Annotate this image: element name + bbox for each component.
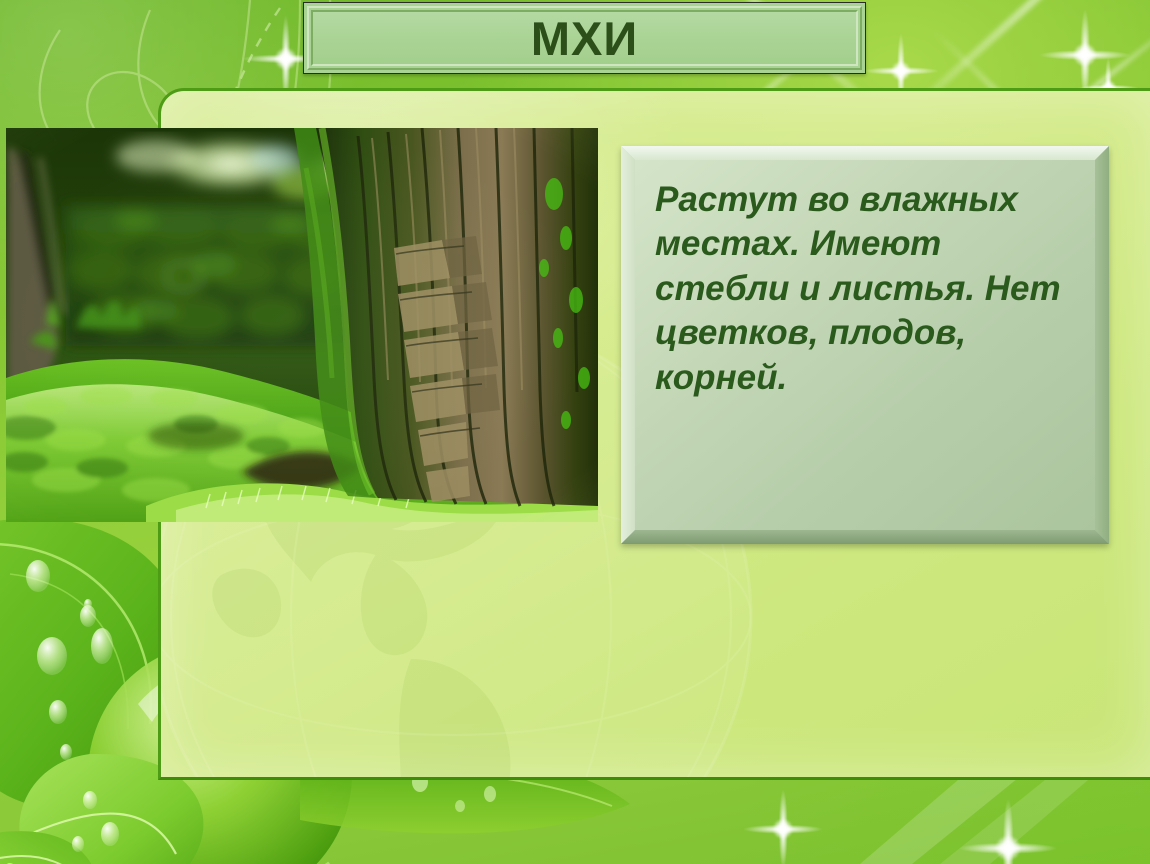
plaque-inner-frame: МХИ	[311, 10, 858, 66]
textbox-bevel-left	[621, 146, 635, 544]
page-title: МХИ	[531, 15, 638, 62]
textbox-face: Растут во влажных местах. Имеют стебли и…	[635, 160, 1095, 530]
moss-photo-image	[6, 128, 598, 522]
slide-title-plaque: МХИ	[303, 2, 866, 74]
textbox-bevel-right	[1095, 146, 1109, 544]
textbox-bevel-top	[621, 146, 1109, 160]
moss-photo	[6, 128, 598, 522]
textbox-bevel-bottom	[621, 530, 1109, 544]
slide-canvas: МХИ Растут во влажных местах. Имеют стеб…	[0, 0, 1150, 864]
description-textbox: Растут во влажных местах. Имеют стебли и…	[621, 146, 1109, 544]
description-text: Растут во влажных местах. Имеют стебли и…	[655, 178, 1075, 400]
